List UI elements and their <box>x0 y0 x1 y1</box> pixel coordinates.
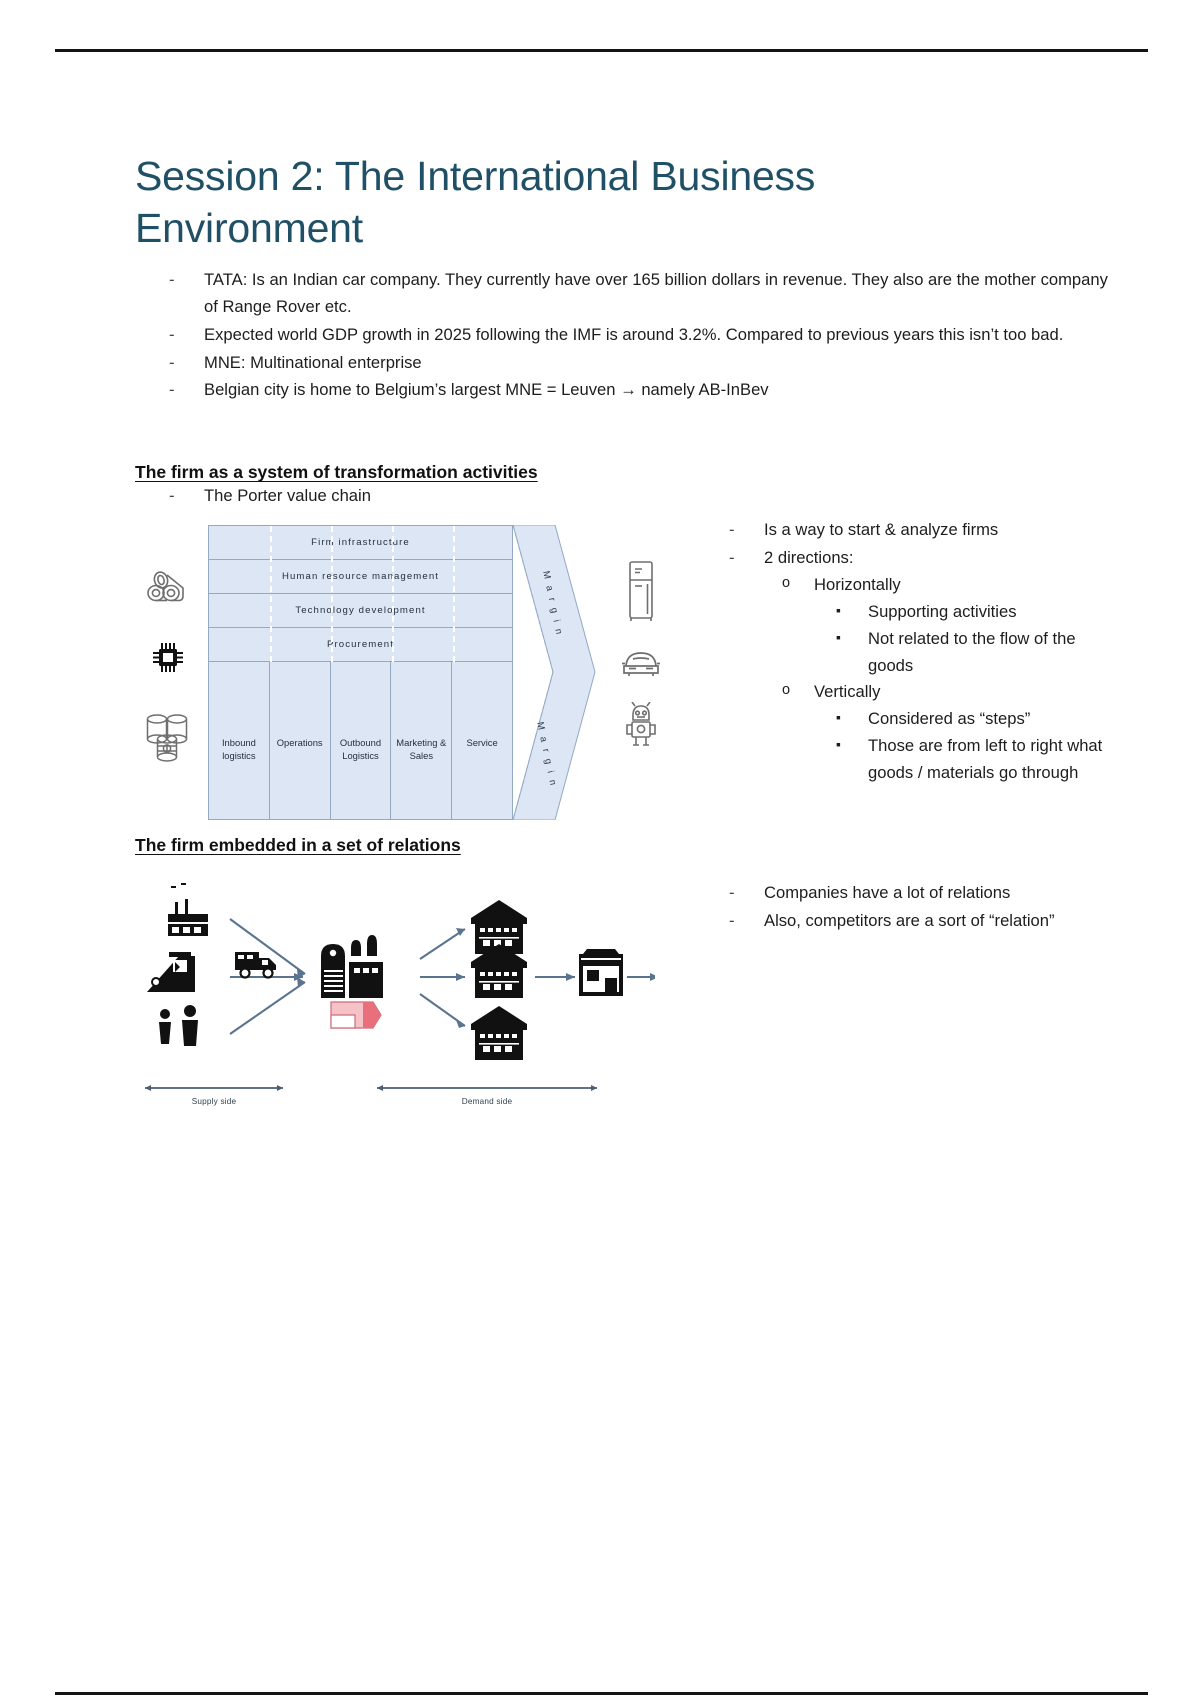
section-heading-2: The firm embedded in a set of relations <box>135 835 1125 856</box>
list-item: Belgian city is home to Belgium’s larges… <box>135 377 1125 404</box>
factory-icon <box>168 883 208 936</box>
section-heading-1: The firm as a system of transformation a… <box>135 462 1125 483</box>
porter-row: Firm infrastructure Human resource manag… <box>135 511 1125 825</box>
shop-icon <box>579 949 623 996</box>
robot-icon <box>624 702 658 748</box>
list-item: The Porter value chain <box>135 483 1125 510</box>
porter-diagram-column: Firm infrastructure Human resource manag… <box>135 511 695 825</box>
porter-input-icons <box>133 570 203 762</box>
vertically-point-0: Considered as “steps” <box>868 709 1030 728</box>
truck-icon <box>235 952 276 978</box>
direction-vertically-label: Vertically <box>814 682 880 701</box>
list-item: Is a way to start & analyze firms <box>695 517 1125 544</box>
primary-activity: Inbound logistics <box>209 662 270 820</box>
support-row: Procurement <box>209 628 512 662</box>
porter-note-0: Is a way to start & analyze firms <box>764 520 998 539</box>
support-activities-block: Firm infrastructure Human resource manag… <box>209 526 512 662</box>
porter-grid: Firm infrastructure Human resource manag… <box>208 525 513 820</box>
horizontally-points: Supporting activities Not related to the… <box>814 599 1125 680</box>
direction-horizontally-label: Horizontally <box>814 575 901 594</box>
porter-notes-column: Is a way to start & analyze firms 2 dire… <box>695 511 1125 788</box>
intro-bullet-3: Belgian city is home to Belgium’s larges… <box>204 380 769 399</box>
supply-chain-diagram: Supply side Demand side <box>135 874 655 1124</box>
directions-list: Horizontally Supporting activities Not r… <box>764 572 1125 787</box>
support-row: Firm infrastructure <box>209 526 512 560</box>
porter-note-1: 2 directions: <box>764 548 853 567</box>
porter-lead-bullet: The Porter value chain <box>204 486 371 505</box>
support-row: Human resource management <box>209 560 512 594</box>
section-relations: The firm embedded in a set of relations <box>135 835 1125 1124</box>
list-item: Considered as “steps” <box>814 706 1125 733</box>
primary-activities-block: Inbound logistics Operations Outbound Lo… <box>209 662 512 820</box>
mine-icon <box>147 952 195 992</box>
demand-side-label: Demand side <box>462 1097 513 1106</box>
support-row: Technology development <box>209 594 512 628</box>
intro-bullet-list: TATA: Is an Indian car company. They cur… <box>135 267 1125 404</box>
porter-notes-list: Is a way to start & analyze firms 2 dire… <box>695 517 1125 787</box>
document-page: Session 2: The International Business En… <box>0 0 1200 1700</box>
microchip-icon <box>152 640 184 674</box>
primary-activity: Marketing & Sales <box>391 662 452 820</box>
flag-icon <box>331 1002 381 1028</box>
refrigerator-icon <box>626 560 656 622</box>
header-rule <box>55 49 1148 52</box>
supply-chain-column: Supply side Demand side <box>135 874 695 1124</box>
list-item: Companies have a lot of relations <box>695 880 1125 907</box>
primary-activity: Outbound Logistics <box>331 662 392 820</box>
primary-activity: Operations <box>270 662 331 820</box>
porter-value-chain-diagram: Firm infrastructure Human resource manag… <box>133 525 678 825</box>
intro-bullet-1: Expected world GDP growth in 2025 follow… <box>204 325 1063 344</box>
list-item: Vertically Considered as “steps” Those a… <box>764 679 1125 787</box>
page-title: Session 2: The International Business En… <box>135 150 895 255</box>
relations-note-0: Companies have a lot of relations <box>764 883 1010 902</box>
porter-lead-list: The Porter value chain <box>135 483 1125 510</box>
raw-materials-icon <box>145 570 191 604</box>
list-item: Horizontally Supporting activities Not r… <box>764 572 1125 680</box>
relations-note-1: Also, competitors are a sort of “relatio… <box>764 911 1055 930</box>
list-item: Supporting activities <box>814 599 1125 626</box>
primary-activity: Service <box>452 662 512 820</box>
people-icon <box>159 1005 198 1046</box>
car-icon <box>620 646 662 678</box>
list-item: Also, competitors are a sort of “relatio… <box>695 908 1125 935</box>
supply-side-label: Supply side <box>192 1097 237 1106</box>
list-item: Those are from left to right what goods … <box>814 733 1125 787</box>
list-item: 2 directions: Horizontally Supporting ac… <box>695 545 1125 787</box>
porter-output-icons <box>605 560 677 748</box>
relations-row: Supply side Demand side Companies have a… <box>135 874 1125 1124</box>
list-item: TATA: Is an Indian car company. They cur… <box>135 267 1125 321</box>
intro-bullet-0: TATA: Is an Indian car company. They cur… <box>204 270 1108 316</box>
relations-notes-list: Companies have a lot of relations Also, … <box>695 880 1125 935</box>
document-content: Session 2: The International Business En… <box>135 150 1125 1124</box>
list-item: Not related to the flow of the goods <box>814 626 1125 680</box>
horizontally-point-1: Not related to the flow of the goods <box>868 629 1076 675</box>
relations-notes-column: Companies have a lot of relations Also, … <box>695 874 1125 936</box>
vertically-point-1: Those are from left to right what goods … <box>868 736 1102 782</box>
vertically-points: Considered as “steps” Those are from lef… <box>814 706 1125 787</box>
horizontally-point-0: Supporting activities <box>868 602 1017 621</box>
plant-warehouse-icon <box>321 935 383 998</box>
intro-bullet-2: MNE: Multinational enterprise <box>204 353 422 372</box>
list-item: Expected world GDP growth in 2025 follow… <box>135 322 1125 349</box>
footer-rule <box>55 1692 1148 1695</box>
oil-barrels-icon <box>144 710 192 762</box>
warehouse-bottom-icon <box>471 1006 527 1060</box>
list-item: MNE: Multinational enterprise <box>135 350 1125 377</box>
section-transformation: The firm as a system of transformation a… <box>135 462 1125 825</box>
